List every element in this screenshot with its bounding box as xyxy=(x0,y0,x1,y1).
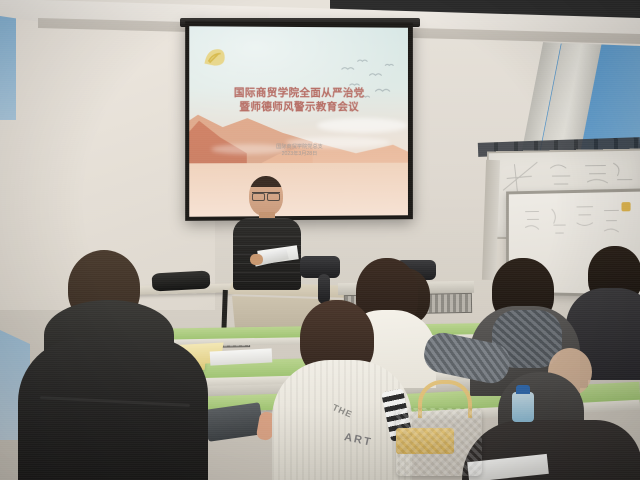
cpc-hammer-sickle-emblem xyxy=(200,45,228,69)
slide-title: 国际商贸学院全面从严治党 暨师德师风警示教育会议 xyxy=(189,85,408,113)
slide-cloud-a xyxy=(317,118,408,133)
slide-subtitle: 国际商贸学院党总支 2023年3月28日 xyxy=(189,144,408,158)
slide-foreground-haze xyxy=(189,163,408,217)
slide-title-line-1: 国际商贸学院全面从严治党 xyxy=(189,85,408,99)
slide-title-line-2: 暨师德师风警示教育会议 xyxy=(189,99,408,113)
presenter-hand xyxy=(250,254,263,265)
water-bottle xyxy=(512,392,534,422)
classroom-photo: 国际商贸学院全面从严治党 暨师德师风警示教育会议 国际商贸学院党总支 2023年… xyxy=(0,0,640,480)
slide-subtitle-line-2: 2023年3月28日 xyxy=(189,151,408,159)
black-bag-on-table xyxy=(152,270,211,291)
presentation-slide: 国际商贸学院全面从严治党 暨师德师风警示教育会议 国际商贸学院党总支 2023年… xyxy=(189,26,408,217)
mint-green-handbag xyxy=(396,408,482,476)
glasses-icon xyxy=(252,192,280,200)
audience-body-foreground-left xyxy=(18,338,208,480)
water-bottle-cap xyxy=(516,385,530,394)
chair-stem xyxy=(318,274,330,304)
projection-screen: 国际商贸学院全面从严治党 暨师德师风警示教育会议 国际商贸学院党总支 2023年… xyxy=(185,21,413,221)
